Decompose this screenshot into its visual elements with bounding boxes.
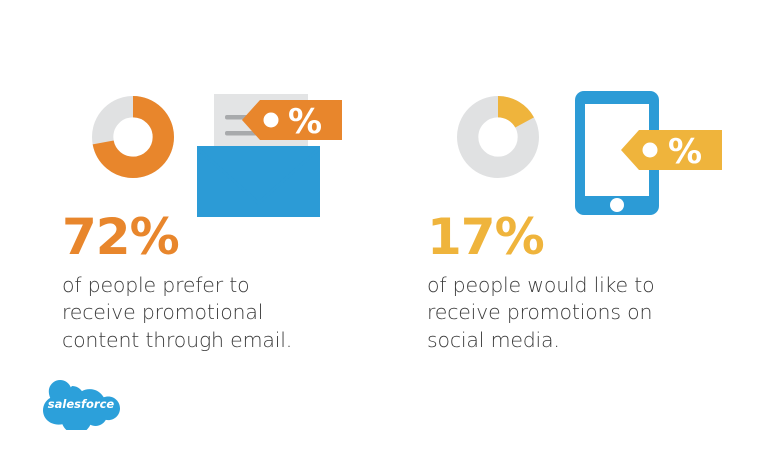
salesforce-wordmark: salesforce	[48, 397, 115, 411]
discount-tag-orange: %	[242, 100, 342, 142]
infographic-canvas: % 72% of people prefer to receive promot…	[0, 0, 765, 470]
cloud-icon: salesforce	[42, 378, 120, 430]
tag-percent-symbol: %	[668, 132, 702, 172]
stat-panel-social: % 17% of people would like to receive pr…	[427, 88, 727, 340]
envelope-with-discount-tag-icon: %	[192, 88, 362, 218]
tag-hole	[643, 143, 658, 158]
discount-tag-amber: %	[621, 130, 722, 172]
stat-value-social: 17%	[427, 212, 727, 262]
donut-chart-72	[92, 96, 174, 178]
tag-hole	[264, 113, 279, 128]
smartphone-with-discount-tag-icon: %	[567, 88, 737, 218]
stat-visual-email: %	[62, 88, 362, 208]
stat-visual-social: %	[427, 88, 727, 208]
stat-value-email: 72%	[62, 212, 362, 262]
tag-percent-symbol: %	[288, 102, 322, 142]
donut-chart-17	[457, 96, 539, 178]
salesforce-logo: salesforce	[42, 378, 120, 430]
stat-caption-social: of people would like to receive promotio…	[427, 272, 727, 354]
phone-home-button	[610, 198, 624, 212]
stat-panel-email: % 72% of people prefer to receive promot…	[62, 88, 362, 340]
stat-caption-email: of people prefer to receive promotional …	[62, 272, 362, 354]
